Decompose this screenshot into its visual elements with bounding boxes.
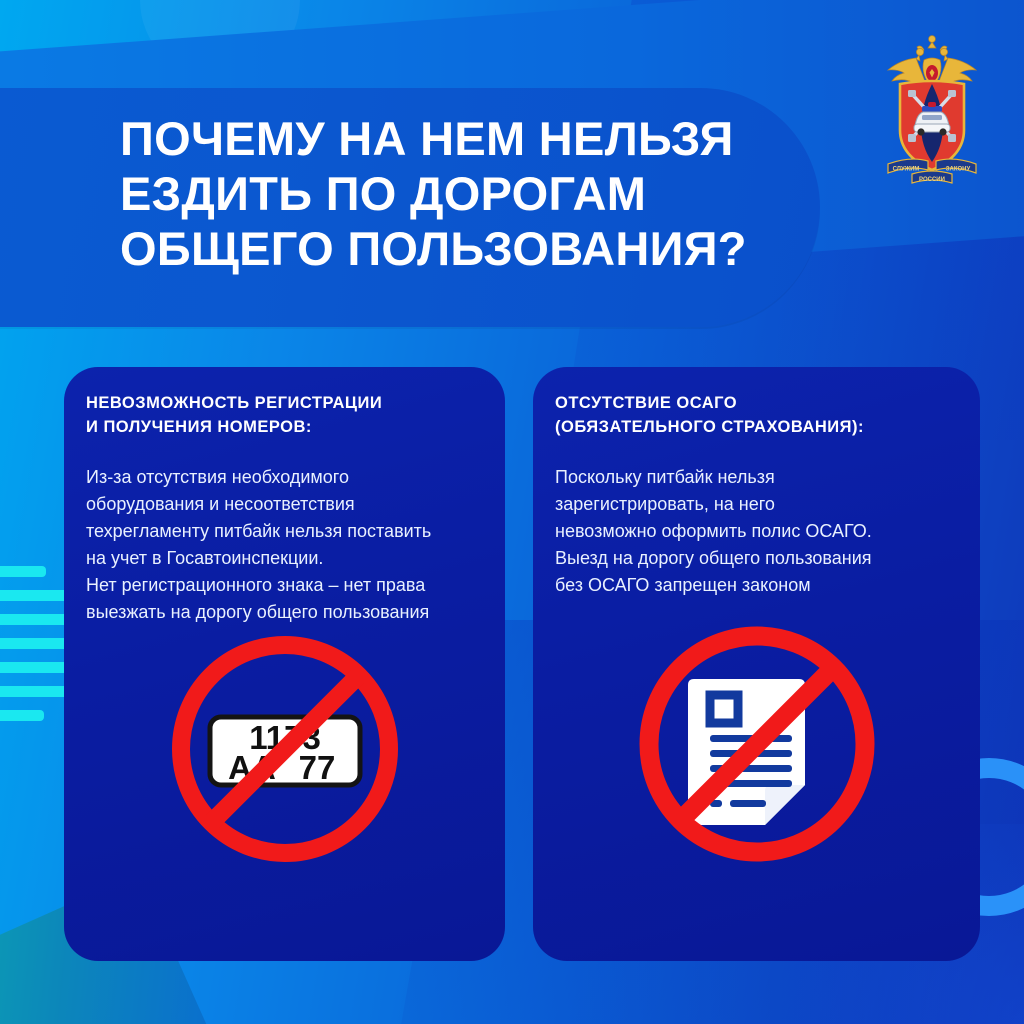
body-line: Поскольку питбайк нельзя	[555, 464, 958, 491]
card-registration: НЕВОЗМОЖНОСТЬ РЕГИСТРАЦИИ И ПОЛУЧЕНИЯ НО…	[64, 367, 505, 961]
decor-bar	[0, 566, 46, 577]
page-title: ПОЧЕМУ НА НЕМ НЕЛЬЗЯ ЕЗДИТЬ ПО ДОРОГАМ О…	[120, 112, 910, 277]
body-line: Нет регистрационного знака – нет права	[86, 572, 483, 599]
emblem-motto-left: СЛУЖИМ	[893, 167, 920, 173]
body-line: на учет в Госавтоинспекции.	[86, 545, 483, 572]
body-line: оборудования и несоответствия	[86, 491, 483, 518]
plate-region: 77	[298, 749, 335, 786]
heading-line-2: (ОБЯЗАТЕЛЬНОГО СТРАХОВАНИЯ):	[555, 416, 958, 440]
gibdd-emblem: СЛУЖИМ РОССИИ ЗАКОНУ	[872, 28, 992, 188]
no-license-plate-graphic: 1173 AA 77	[165, 629, 405, 869]
heading-line-1: ОТСУТСТВИЕ ОСАГО	[555, 392, 958, 416]
emblem-motto-right: ЗАКОНУ	[946, 167, 971, 173]
card-registration-body: Из-за отсутствия необходимого оборудован…	[64, 464, 505, 626]
title-line-1: ПОЧЕМУ НА НЕМ НЕЛЬЗЯ	[120, 112, 910, 167]
emblem-motto-center: РОССИИ	[919, 177, 945, 183]
card-osago: ОТСУТСТВИЕ ОСАГО (ОБЯЗАТЕЛЬНОГО СТРАХОВА…	[533, 367, 980, 961]
no-insurance-document-graphic	[632, 619, 882, 869]
body-line: невозможно оформить полис ОСАГО.	[555, 518, 958, 545]
body-line: без ОСАГО запрещен законом	[555, 572, 958, 599]
title-line-3: ОБЩЕГО ПОЛЬЗОВАНИЯ?	[120, 222, 910, 277]
infographic-poster: ПОЧЕМУ НА НЕМ НЕЛЬЗЯ ЕЗДИТЬ ПО ДОРОГАМ О…	[0, 0, 1024, 1024]
heading-line-2: И ПОЛУЧЕНИЯ НОМЕРОВ:	[86, 416, 483, 440]
decor-bar	[0, 590, 74, 601]
no-license-plate-icon: 1173 AA 77	[165, 629, 405, 869]
heading-line-1: НЕВОЗМОЖНОСТЬ РЕГИСТРАЦИИ	[86, 392, 483, 416]
title-line-2: ЕЗДИТЬ ПО ДОРОГАМ	[120, 167, 910, 222]
decor-bar	[0, 686, 74, 697]
no-insurance-document-icon	[632, 619, 882, 869]
body-line: техрегламенту питбайк нельзя поставить	[86, 518, 483, 545]
card-osago-body: Поскольку питбайк нельзя зарегистрироват…	[533, 464, 980, 599]
card-osago-heading: ОТСУТСТВИЕ ОСАГО (ОБЯЗАТЕЛЬНОГО СТРАХОВА…	[533, 392, 980, 440]
decor-bar	[0, 710, 44, 721]
body-line: выезжать на дорогу общего пользования	[86, 599, 483, 626]
gibdd-emblem-icon: СЛУЖИМ РОССИИ ЗАКОНУ	[872, 28, 992, 188]
card-registration-heading: НЕВОЗМОЖНОСТЬ РЕГИСТРАЦИИ И ПОЛУЧЕНИЯ НО…	[64, 392, 505, 440]
body-line: Выезд на дорогу общего пользования	[555, 545, 958, 572]
body-line: Из-за отсутствия необходимого	[86, 464, 483, 491]
body-line: зарегистрировать, на него	[555, 491, 958, 518]
